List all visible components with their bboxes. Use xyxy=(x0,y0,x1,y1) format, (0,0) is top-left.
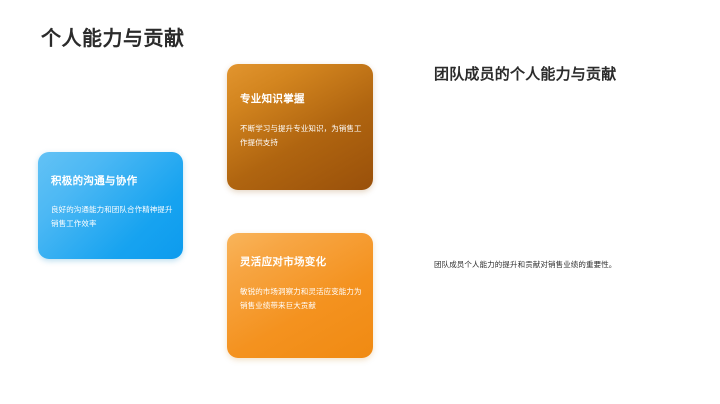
card-body-text: 不断学习与提升专业知识，为销售工作提供支持 xyxy=(240,122,364,150)
card-title: 积极的沟通与协作 xyxy=(51,175,137,188)
card-title: 灵活应对市场变化 xyxy=(240,256,326,269)
right-panel-caption: 团队成员个人能力的提升和贡献对销售业绩的重要性。 xyxy=(434,259,680,271)
page-title: 个人能力与贡献 xyxy=(41,27,185,51)
slide-canvas: 个人能力与贡献 积极的沟通与协作 良好的沟通能力和团队合作精神提升销售工作效率 … xyxy=(0,0,720,404)
card-communication-collaboration[interactable]: 积极的沟通与协作 良好的沟通能力和团队合作精神提升销售工作效率 xyxy=(38,152,183,259)
card-title: 专业知识掌握 xyxy=(240,93,305,106)
card-body-text: 良好的沟通能力和团队合作精神提升销售工作效率 xyxy=(51,203,173,231)
right-panel-heading: 团队成员的个人能力与贡献 xyxy=(434,64,674,86)
card-market-adaptability[interactable]: 灵活应对市场变化 敏锐的市场洞察力和灵活应变能力为销售业绩带来巨大贡献 xyxy=(227,233,373,358)
card-body-text: 敏锐的市场洞察力和灵活应变能力为销售业绩带来巨大贡献 xyxy=(240,285,364,313)
card-professional-knowledge[interactable]: 专业知识掌握 不断学习与提升专业知识，为销售工作提供支持 xyxy=(227,64,373,190)
